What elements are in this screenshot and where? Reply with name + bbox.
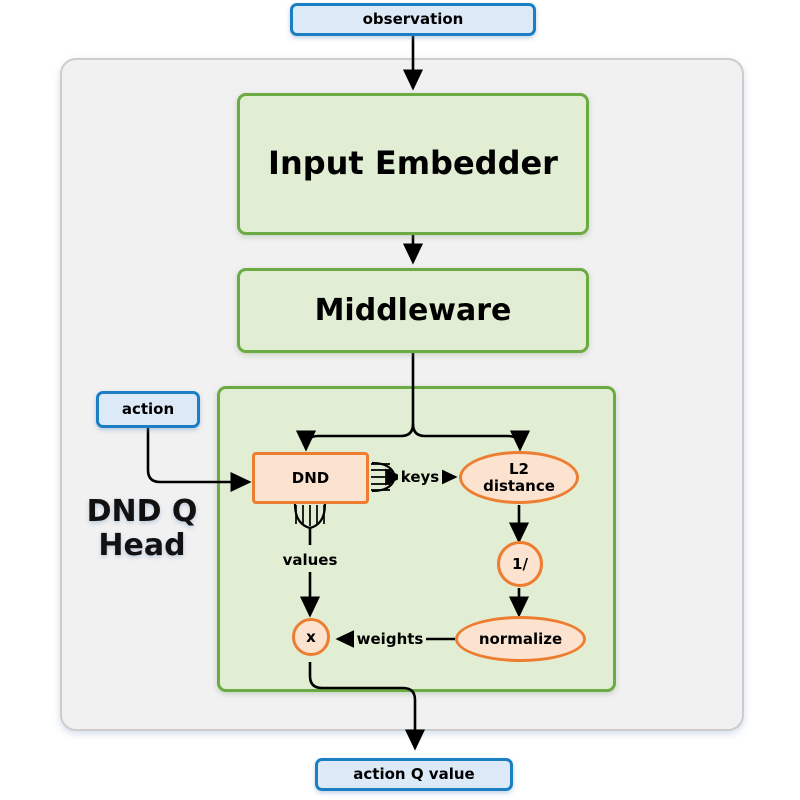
io-node-action[interactable]: action [96, 391, 200, 428]
dnd-q-head-title-line2: Head [72, 529, 212, 563]
process-node-middleware[interactable]: Middleware [237, 268, 589, 353]
edge-multiply-to-action-q-value [310, 662, 415, 748]
l2-distance-label-line1: L2 [509, 461, 529, 478]
edge-fork-left [306, 424, 413, 448]
input-embedder-label: Input Embedder [268, 146, 558, 182]
action-q-value-label: action Q value [353, 766, 474, 783]
normalize-label: normalize [479, 631, 562, 648]
diagram-canvas: observation Input Embedder Middleware ac… [0, 0, 800, 800]
l2-distance-node[interactable]: L2 distance [459, 451, 579, 504]
dnd-node[interactable]: DND [252, 452, 369, 504]
io-node-observation[interactable]: observation [290, 3, 536, 36]
reciprocal-label: 1/ [512, 556, 528, 573]
dnd-q-head-group-title: DND Q Head [72, 495, 212, 562]
dnd-q-head-title-line1: DND Q [72, 495, 212, 529]
edge-label-keys: keys [398, 466, 442, 488]
edge-label-weights: weights [354, 628, 426, 650]
edge-action-to-dnd [148, 428, 242, 482]
io-node-action-q-value[interactable]: action Q value [315, 758, 513, 791]
reciprocal-node[interactable]: 1/ [497, 541, 543, 587]
multiply-node[interactable]: x [292, 618, 330, 656]
normalize-node[interactable]: normalize [455, 616, 586, 662]
process-node-input-embedder[interactable]: Input Embedder [237, 93, 589, 235]
observation-label: observation [363, 11, 464, 28]
edge-label-values: values [278, 549, 342, 571]
edge-fork-right [413, 424, 520, 448]
l2-distance-label-line2: distance [483, 478, 555, 495]
dnd-label: DND [292, 470, 329, 487]
middleware-label: Middleware [315, 294, 512, 328]
action-label: action [122, 401, 174, 418]
multiply-label: x [306, 629, 316, 646]
